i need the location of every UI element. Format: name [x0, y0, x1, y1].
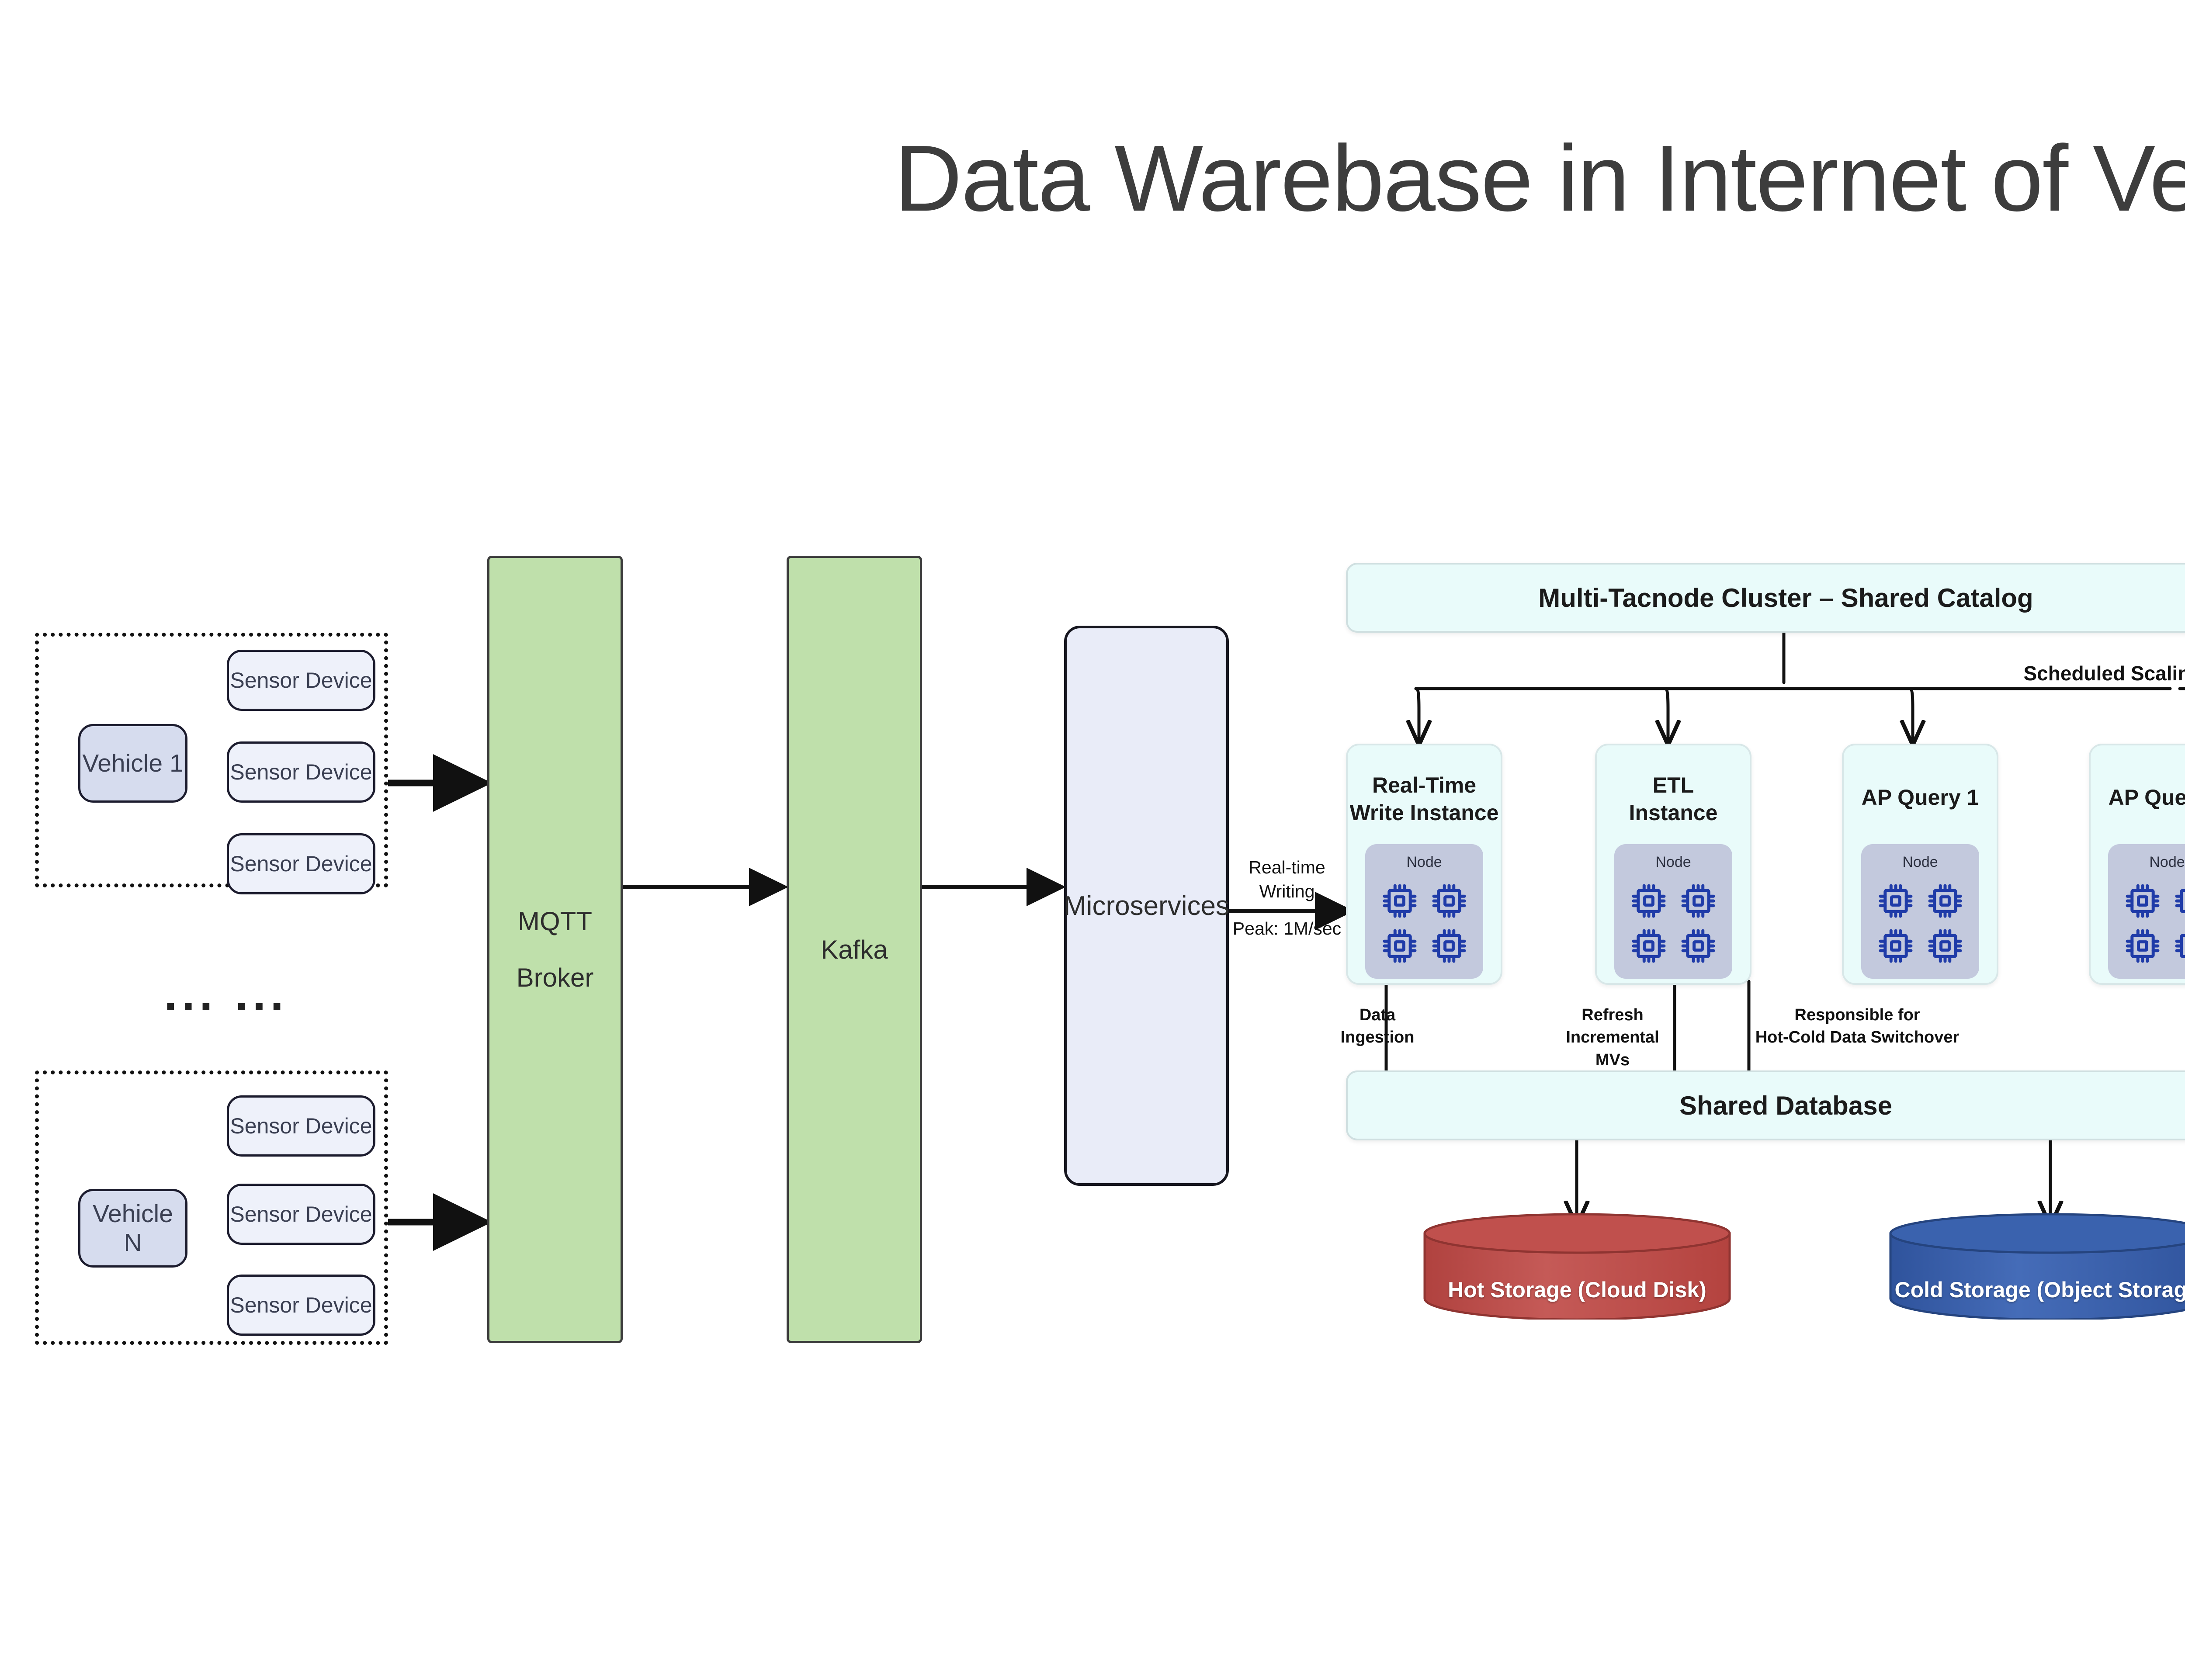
cold-storage-label: Cold Storage (Object Storage) — [1888, 1277, 2185, 1302]
cpu-chip-grid — [1871, 878, 1970, 968]
page-title: Data Warebase in Internet of Vehicles — [0, 131, 2185, 225]
edge-label-data-ingestion: Data Ingestion — [1316, 1004, 1439, 1049]
cpu-chip-icon — [2124, 927, 2161, 965]
cpu-chip-icon — [1630, 927, 1668, 965]
instance-title-line1: AP Query 1 — [1844, 784, 1997, 811]
cpu-chip-icon — [1381, 882, 1419, 920]
mqtt-label-line1: MQTT — [518, 893, 592, 949]
vehicle-label: Vehicle N — [80, 1199, 185, 1257]
kafka-column[interactable]: Kafka — [787, 556, 922, 1343]
edge-label-line2: Incremental MVs — [1547, 1026, 1678, 1071]
sensor-device-n-1[interactable]: Sensor Device — [227, 1095, 375, 1157]
sensor-label: Sensor Device — [230, 668, 372, 693]
node-box: Node — [1614, 844, 1732, 979]
scheduled-scaling-label: Scheduled Scaling — [1991, 660, 2185, 687]
cold-storage-cylinder[interactable]: Cold Storage (Object Storage) — [1888, 1212, 2185, 1320]
cpu-chip-icon — [1926, 927, 1964, 965]
node-label: Node — [1365, 854, 1483, 871]
sensor-label: Sensor Device — [230, 1292, 372, 1318]
cpu-chip-grid — [1624, 878, 1723, 968]
instance-title-line1: ETL — [1597, 772, 1750, 799]
kafka-label: Kafka — [821, 921, 888, 978]
cluster-header-label: Multi-Tacnode Cluster – Shared Catalog — [1538, 583, 2033, 613]
edge-label-refresh-mvs: Refresh Incremental MVs — [1547, 1004, 1678, 1071]
edge-label-realtime-writing: Real-time Writing — [1221, 856, 1353, 904]
sensor-device-1-1[interactable]: Sensor Device — [227, 650, 375, 711]
edge-label-line1: Refresh — [1547, 1004, 1678, 1026]
vehicle-box-1[interactable]: Vehicle 1 — [78, 724, 187, 803]
instance-etl[interactable]: ETL Instance Node — [1595, 744, 1751, 985]
node-box: Node — [1861, 844, 1979, 979]
sensor-device-n-2[interactable]: Sensor Device — [227, 1184, 375, 1245]
sensor-label: Sensor Device — [230, 1202, 372, 1227]
hot-storage-label: Hot Storage (Cloud Disk) — [1422, 1277, 1732, 1302]
shared-database-bar[interactable]: Shared Database — [1346, 1070, 2185, 1140]
mqtt-label-line2: Broker — [517, 949, 594, 1006]
edge-label-line2: Ingestion — [1316, 1026, 1439, 1049]
instance-real-time-write[interactable]: Real-Time Write Instance Node — [1346, 744, 1502, 985]
instance-ap-query-1[interactable]: AP Query 1 Node — [1842, 744, 1998, 985]
sensor-device-1-3[interactable]: Sensor Device — [227, 833, 375, 894]
edge-label-line1: Data — [1316, 1004, 1439, 1026]
cpu-chip-icon — [2124, 882, 2161, 920]
cpu-chip-icon — [1679, 882, 1717, 920]
edge-label-hot-cold-switchover: Responsible for Hot-Cold Data Switchover — [1752, 1004, 1962, 1049]
instance-title-line1: Real-Time — [1348, 772, 1501, 799]
cpu-chip-icon — [1430, 927, 1468, 965]
vehicle-group-1: Vehicle 1 Sensor Device Sensor Device Se… — [35, 633, 388, 887]
node-box: Node — [2108, 844, 2185, 979]
hot-storage-cylinder[interactable]: Hot Storage (Cloud Disk) — [1422, 1212, 1732, 1320]
sensor-label: Sensor Device — [230, 1113, 372, 1139]
cpu-chip-icon — [1926, 882, 1964, 920]
cpu-chip-icon — [2173, 927, 2185, 965]
vehicle-label: Vehicle 1 — [82, 749, 183, 778]
node-label: Node — [1614, 854, 1732, 871]
vehicle-box-n[interactable]: Vehicle N — [78, 1189, 187, 1268]
instance-ap-query-2[interactable]: AP Query 2 Node — [2089, 744, 2185, 985]
sensor-device-n-3[interactable]: Sensor Device — [227, 1275, 375, 1336]
node-label: Node — [2108, 854, 2185, 871]
instance-title-line2: Instance — [1597, 799, 1750, 827]
cpu-chip-icon — [2173, 882, 2185, 920]
microservices-column[interactable]: Microservices — [1064, 626, 1229, 1186]
diagram-canvas: Data Warebase in Internet of Vehicles — [0, 0, 2185, 1680]
cpu-chip-icon — [1430, 882, 1468, 920]
edge-label-peak-rate: Peak: 1M/sec — [1221, 917, 1353, 941]
edge-label-line2: Hot-Cold Data Switchover — [1752, 1026, 1962, 1049]
node-label: Node — [1861, 854, 1979, 871]
sensor-device-1-2[interactable]: Sensor Device — [227, 741, 375, 803]
instance-title-line1: AP Query 2 — [2091, 784, 2185, 811]
instance-title-line2: Write Instance — [1348, 799, 1501, 827]
cluster-header-bar[interactable]: Multi-Tacnode Cluster – Shared Catalog — [1346, 563, 2185, 633]
cpu-chip-icon — [1679, 927, 1717, 965]
cpu-chip-icon — [1381, 927, 1419, 965]
node-box: Node — [1365, 844, 1483, 979]
vehicles-ellipsis: ... ... — [164, 970, 288, 1018]
cpu-chip-grid — [2118, 878, 2185, 968]
cpu-chip-icon — [1877, 927, 1914, 965]
edge-label-line1: Responsible for — [1752, 1004, 1962, 1026]
shared-database-label: Shared Database — [1679, 1091, 1892, 1121]
sensor-label: Sensor Device — [230, 851, 372, 876]
cpu-chip-icon — [1877, 882, 1914, 920]
mqtt-broker-column[interactable]: MQTT Broker — [487, 556, 623, 1343]
vehicle-group-n: Vehicle N Sensor Device Sensor Device Se… — [35, 1070, 388, 1345]
microservices-label: Microservices — [1064, 890, 1229, 921]
sensor-label: Sensor Device — [230, 759, 372, 785]
cpu-chip-icon — [1630, 882, 1668, 920]
cpu-chip-grid — [1375, 878, 1474, 968]
